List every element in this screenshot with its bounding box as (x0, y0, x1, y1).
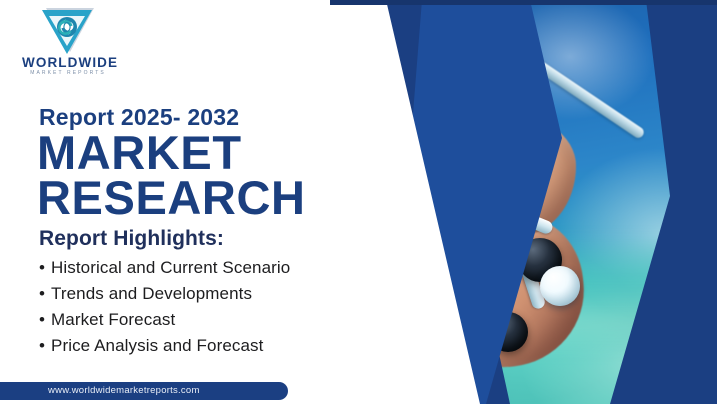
hydrogen-atom (540, 266, 580, 306)
globe-triangle-logo-icon (38, 6, 98, 56)
bullet-icon: • (39, 333, 51, 359)
bullet-icon: • (39, 307, 51, 333)
bullet-icon: • (39, 281, 51, 307)
report-highlights-list: •Historical and Current Scenario •Trends… (39, 255, 290, 359)
artwork-panel (330, 0, 717, 404)
list-item-label: Market Forecast (51, 310, 175, 329)
list-item: •Price Analysis and Forecast (39, 333, 290, 359)
list-item: •Market Forecast (39, 307, 290, 333)
page-title-line-2: RESEARCH (37, 175, 306, 220)
top-accent-strip (330, 0, 717, 5)
market-research-banner: WORLDWIDE MARKET REPORTS Report 2025- 20… (0, 0, 717, 404)
list-item-label: Trends and Developments (51, 284, 252, 303)
list-item-label: Price Analysis and Forecast (51, 336, 263, 355)
list-item: •Trends and Developments (39, 281, 290, 307)
list-item: •Historical and Current Scenario (39, 255, 290, 281)
report-highlights-heading: Report Highlights: (39, 227, 224, 251)
bullet-icon: • (39, 255, 51, 281)
page-title: MARKET RESEARCH (37, 130, 306, 220)
website-url-label[interactable]: www.worldwidemarketreports.com (48, 385, 200, 396)
logo-wordmark: WORLDWIDE (22, 56, 114, 70)
list-item-label: Historical and Current Scenario (51, 258, 290, 277)
logo-tagline: MARKET REPORTS (22, 71, 114, 76)
worldwide-market-reports-logo[interactable]: WORLDWIDE MARKET REPORTS (22, 6, 114, 84)
